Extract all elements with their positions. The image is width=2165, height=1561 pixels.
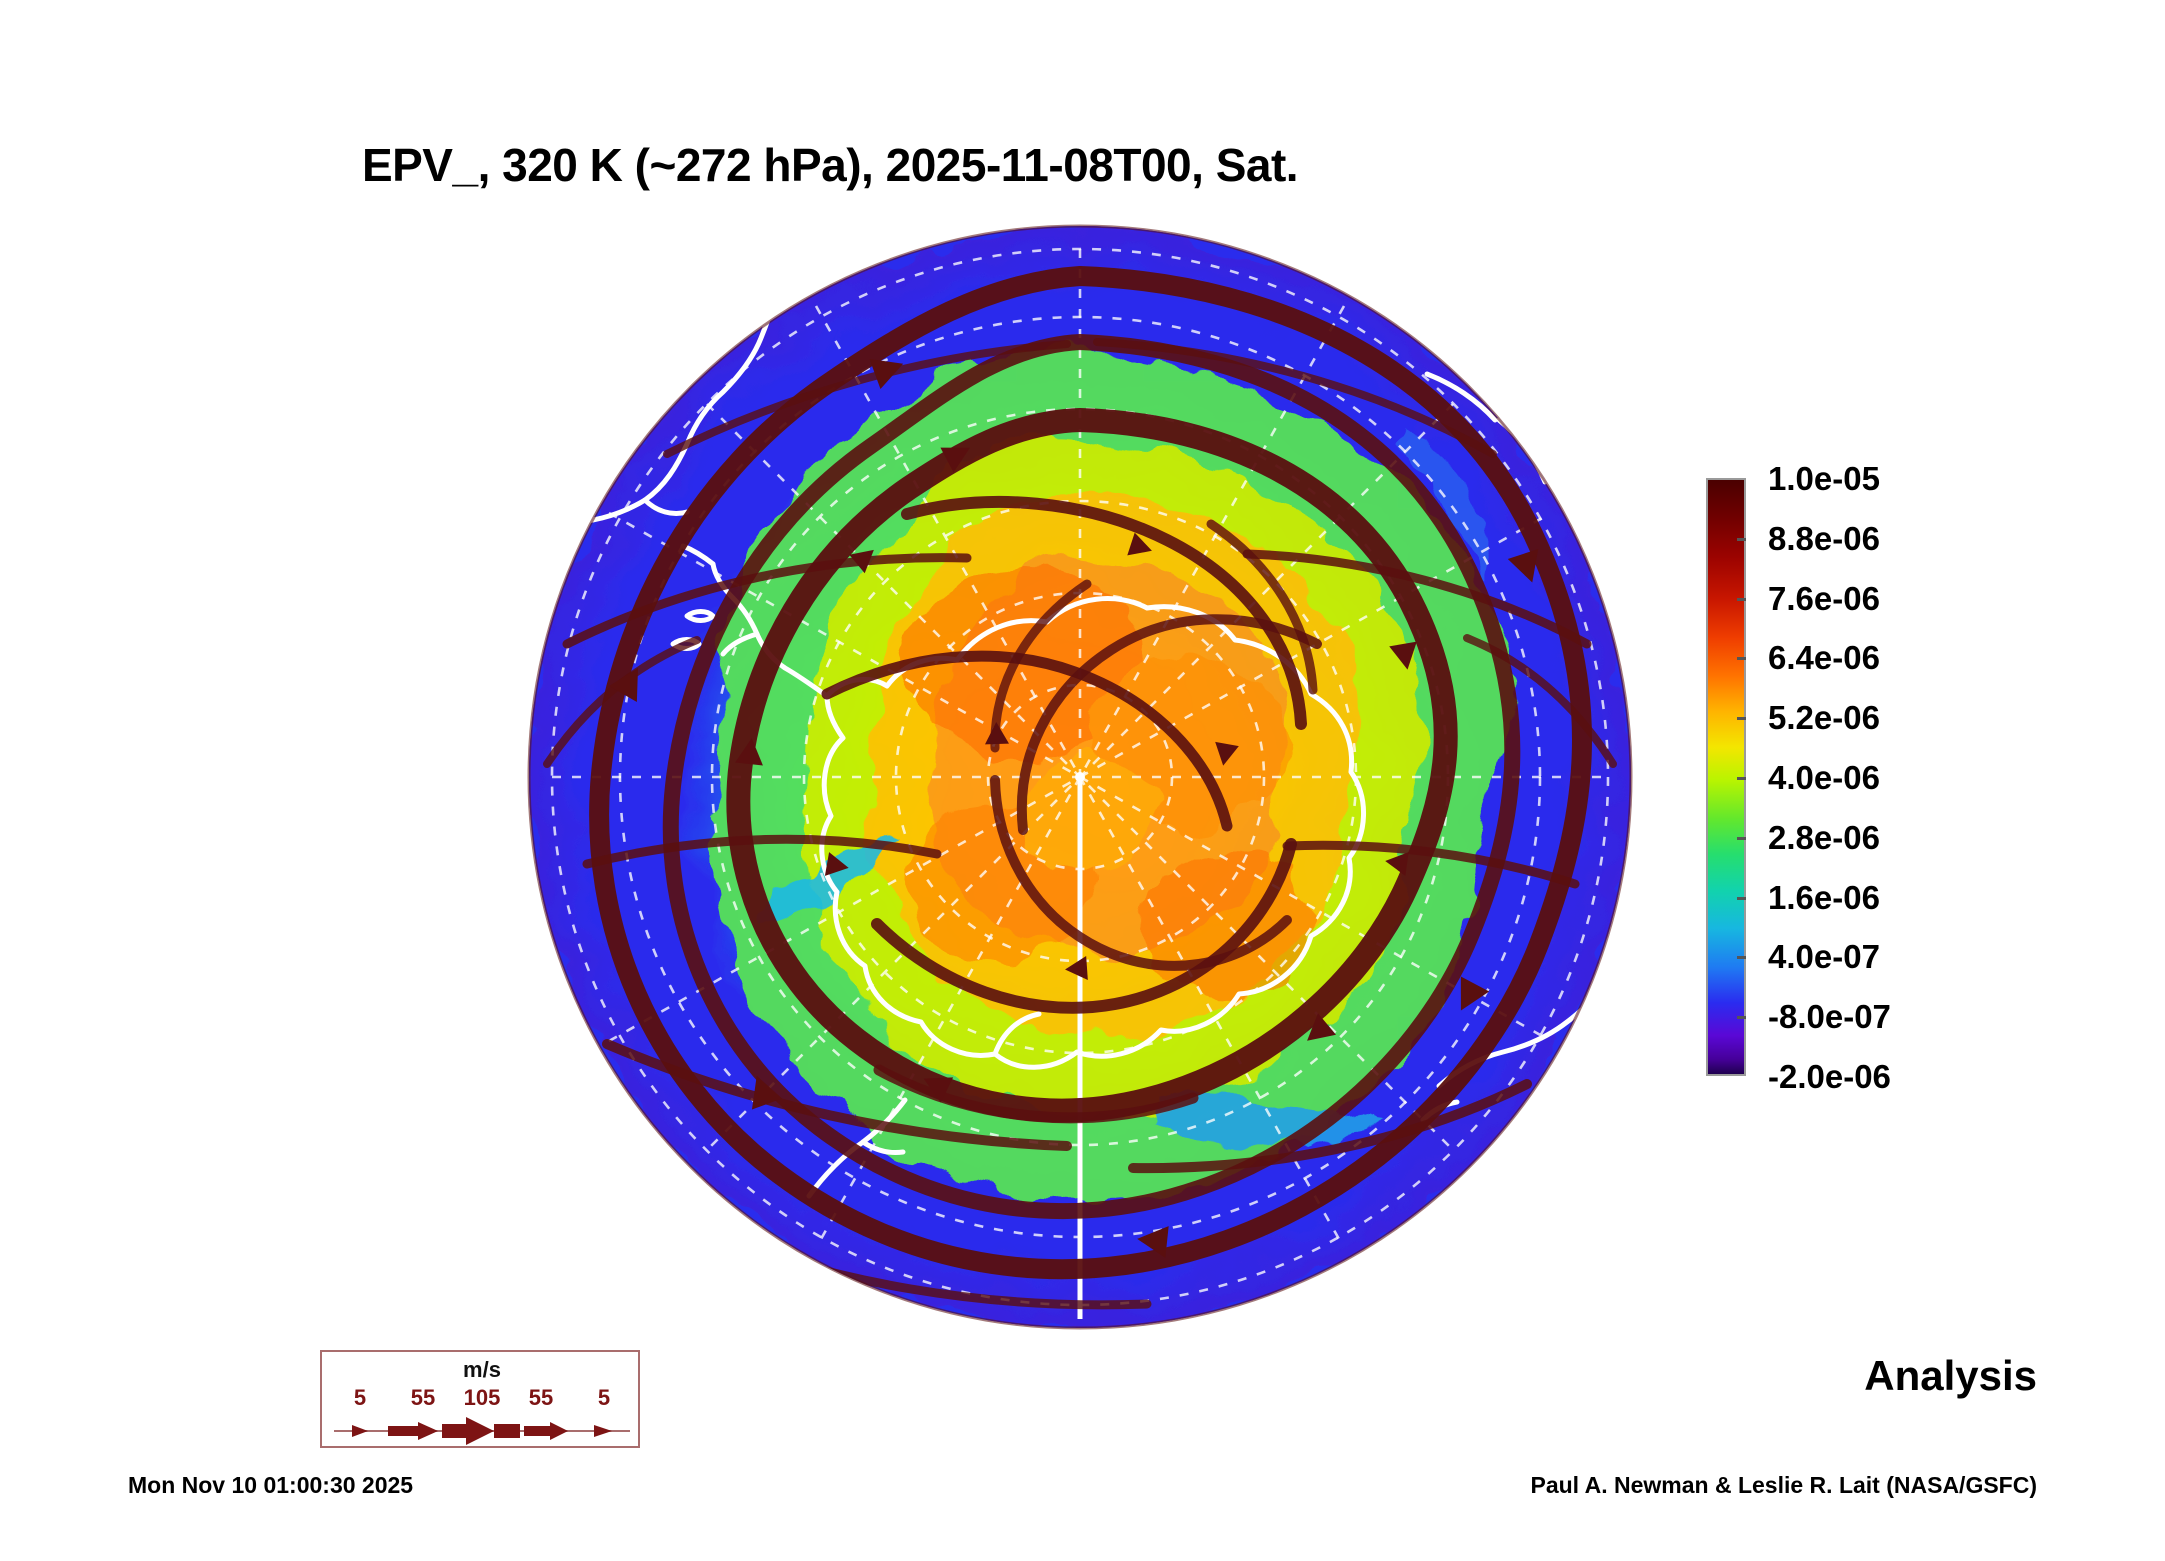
analysis-label: Analysis (1864, 1352, 2037, 1400)
render-timestamp: Mon Nov 10 01:00:30 2025 (128, 1472, 413, 1499)
wind-legend-value: 55 (529, 1385, 553, 1411)
colorbar-tick-label: 6.4e-06 (1768, 641, 1880, 674)
colorbar-labels: 1.0e-058.8e-067.6e-066.4e-065.2e-064.0e-… (1768, 474, 2058, 1084)
polar-stereographic-map (527, 224, 1633, 1330)
polar-map-panel (527, 224, 1633, 1330)
colorbar-tick-label: 8.8e-06 (1768, 522, 1880, 555)
wind-legend-value: 5 (354, 1385, 366, 1411)
colorbar-tick (1737, 598, 1746, 601)
wind-legend-value: 5 (598, 1385, 610, 1411)
colorbar-tick (1737, 538, 1746, 541)
colorbar-tick-label: 4.0e-07 (1768, 940, 1880, 973)
colorbar-tick-label: 1.0e-05 (1768, 462, 1880, 495)
colorbar-tick-label: 1.6e-06 (1768, 881, 1880, 914)
south-pole-marker (1075, 772, 1085, 782)
colorbar-tick (1737, 837, 1746, 840)
map-field (527, 224, 1633, 1330)
wind-legend-arrows (322, 1414, 642, 1448)
wind-legend-value: 105 (464, 1385, 501, 1411)
colorbar-tick (1737, 717, 1746, 720)
colorbar-tick-label: 5.2e-06 (1768, 701, 1880, 734)
wind-legend-values: 555105555 (322, 1385, 642, 1411)
colorbar-tick-label: -8.0e-07 (1768, 1000, 1891, 1033)
wind-legend-value: 55 (411, 1385, 435, 1411)
colorbar-ticks (1706, 478, 1746, 1076)
colorbar-tick (1737, 956, 1746, 959)
wind-legend-unit: m/s (322, 1357, 642, 1383)
colorbar-tick-label: -2.0e-06 (1768, 1060, 1891, 1093)
colorbar-tick-label: 7.6e-06 (1768, 582, 1880, 615)
colorbar-tick-label: 4.0e-06 (1768, 761, 1880, 794)
wind-speed-legend: m/s 555105555 (320, 1350, 640, 1448)
colorbar-tick (1737, 897, 1746, 900)
colorbar-tick-label: 2.8e-06 (1768, 821, 1880, 854)
colorbar-tick (1737, 1016, 1746, 1019)
colorbar-tick (1737, 657, 1746, 660)
colorbar-tick (1737, 777, 1746, 780)
colorbar: 1.0e-058.8e-067.6e-066.4e-065.2e-064.0e-… (1706, 474, 2066, 1084)
page-title: EPV_, 320 K (~272 hPa), 2025-11-08T00, S… (0, 138, 1660, 192)
author-credit: Paul A. Newman & Leslie R. Lait (NASA/GS… (1530, 1472, 2037, 1499)
